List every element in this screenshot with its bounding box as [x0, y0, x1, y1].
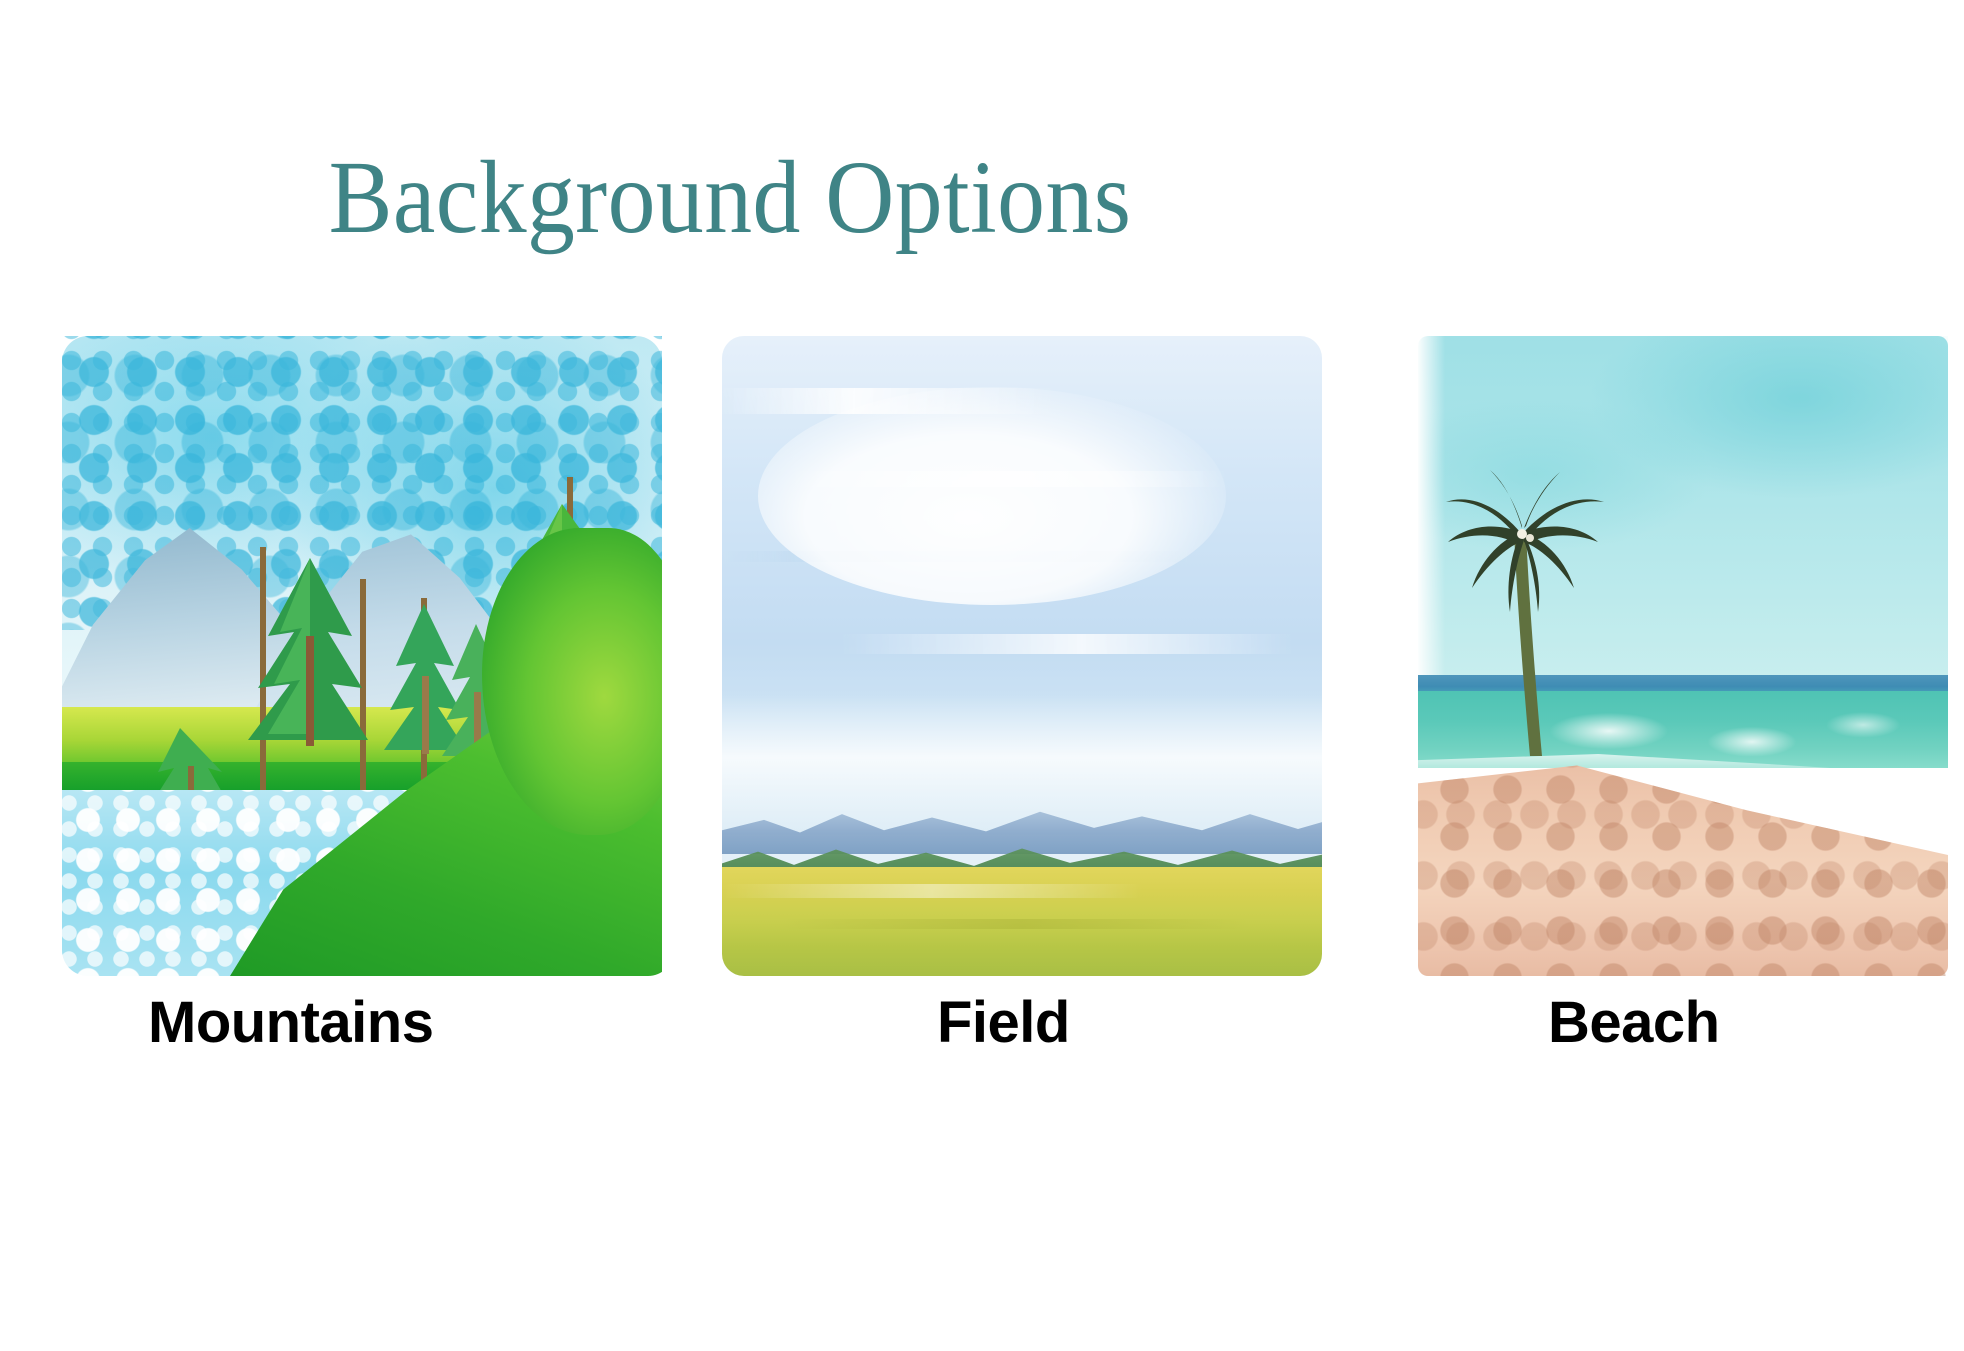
background-option-field[interactable]: Field	[722, 336, 1322, 1052]
background-option-label-beach: Beach	[1548, 994, 1948, 1052]
background-option-label-mountains: Mountains	[148, 994, 662, 1052]
palm-trunk-group	[1450, 490, 1567, 810]
background-option-label-field: Field	[937, 994, 1322, 1052]
field-thumbnail[interactable]	[722, 336, 1322, 976]
cloud-mass	[758, 387, 1226, 605]
golden-meadow	[722, 867, 1322, 976]
horizon-haze	[722, 694, 1322, 835]
background-options-list: Mountains Field	[0, 336, 1964, 1056]
background-option-beach[interactable]: Beach	[1418, 336, 1948, 1052]
background-option-mountains[interactable]: Mountains	[62, 336, 662, 1052]
meadow-grass-texture	[722, 867, 1322, 976]
mountains-thumbnail[interactable]	[62, 336, 662, 976]
page-title: Background Options	[58, 142, 1401, 254]
beach-thumbnail[interactable]	[1418, 336, 1948, 976]
